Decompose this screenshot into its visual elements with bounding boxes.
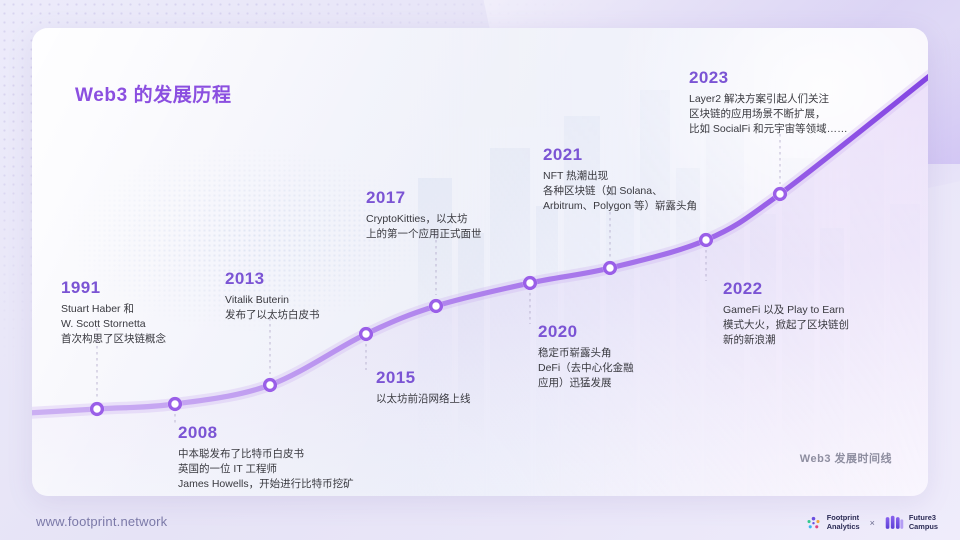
timeline-entry-1991: 1991Stuart Haber 和 W. Scott Stornetta 首次… [61, 278, 166, 348]
timeline-desc-2015: 以太坊前沿网络上线 [376, 392, 471, 407]
future3-campus-label: Future3 Campus [909, 514, 938, 532]
brand-separator: × [870, 518, 875, 528]
footprint-analytics-logo[interactable]: Footprint Analytics [805, 514, 860, 532]
timeline-node-2008[interactable] [168, 397, 182, 411]
timeline-desc-2022: GameFi 以及 Play to Earn 模式大火，掀起了区块链创 新的新浪… [723, 303, 849, 349]
timeline-year-2015: 2015 [376, 368, 471, 388]
timeline-year-2008: 2008 [178, 423, 354, 443]
timeline-entry-2008: 2008中本聪发布了比特币白皮书 英国的一位 IT 工程师 James Howe… [178, 423, 354, 493]
timeline-entry-2021: 2021NFT 热潮出现 各种区块链（如 Solana、 Arbitrum、Po… [543, 145, 697, 215]
website-url[interactable]: www.footprint.network [36, 514, 167, 529]
timeline-year-2013: 2013 [225, 269, 320, 289]
timeline-desc-2008: 中本聪发布了比特币白皮书 英国的一位 IT 工程师 James Howells，… [178, 447, 354, 493]
timeline-node-1991[interactable] [90, 402, 104, 416]
timeline-year-2021: 2021 [543, 145, 697, 165]
timeline-node-2020[interactable] [523, 276, 537, 290]
footprint-analytics-label: Footprint Analytics [827, 514, 860, 532]
timeline-node-2021[interactable] [603, 261, 617, 275]
timeline-desc-2023: Layer2 解决方案引起人们关注 区块链的应用场景不断扩展， 比如 Socia… [689, 92, 848, 138]
timeline-desc-2021: NFT 热潮出现 各种区块链（如 Solana、 Arbitrum、Polygo… [543, 169, 697, 215]
timeline-year-2017: 2017 [366, 188, 482, 208]
timeline-node-2017[interactable] [429, 299, 443, 313]
future3-campus-logo[interactable]: Future3 Campus [885, 514, 938, 532]
timeline-year-2020: 2020 [538, 322, 634, 342]
timeline-year-2023: 2023 [689, 68, 848, 88]
infographic-card: Web3 的发展历程 1991Stuart Haber 和 W. Scott S… [32, 28, 928, 496]
timeline-entry-2022: 2022GameFi 以及 Play to Earn 模式大火，掀起了区块链创 … [723, 279, 849, 349]
future3-w-icon [885, 515, 904, 531]
timeline-node-2015[interactable] [359, 327, 373, 341]
timeline-entry-2015: 2015以太坊前沿网络上线 [376, 368, 471, 407]
timeline-entry-2020: 2020稳定币崭露头角 DeFi（去中心化金融 应用）迅猛发展 [538, 322, 634, 392]
timeline-desc-2017: CryptoKitties，以太坊 上的第一个应用正式面世 [366, 212, 482, 242]
timeline-desc-2013: Vitalik Buterin 发布了以太坊白皮书 [225, 293, 320, 323]
timeline-desc-2020: 稳定币崭露头角 DeFi（去中心化金融 应用）迅猛发展 [538, 346, 634, 392]
timeline-desc-1991: Stuart Haber 和 W. Scott Stornetta 首次构思了区… [61, 302, 166, 348]
timeline-year-1991: 1991 [61, 278, 166, 298]
brand-logos: Footprint Analytics × Future3 Campus [805, 514, 938, 532]
footprint-pinwheel-icon [805, 515, 822, 532]
chart-caption: Web3 发展时间线 [800, 450, 892, 466]
timeline-node-2023[interactable] [773, 187, 787, 201]
timeline-entry-2013: 2013Vitalik Buterin 发布了以太坊白皮书 [225, 269, 320, 323]
timeline-node-2013[interactable] [263, 378, 277, 392]
timeline-entry-2023: 2023Layer2 解决方案引起人们关注 区块链的应用场景不断扩展， 比如 S… [689, 68, 848, 138]
timeline-year-2022: 2022 [723, 279, 849, 299]
timeline-node-2022[interactable] [699, 233, 713, 247]
timeline-entry-2017: 2017CryptoKitties，以太坊 上的第一个应用正式面世 [366, 188, 482, 242]
